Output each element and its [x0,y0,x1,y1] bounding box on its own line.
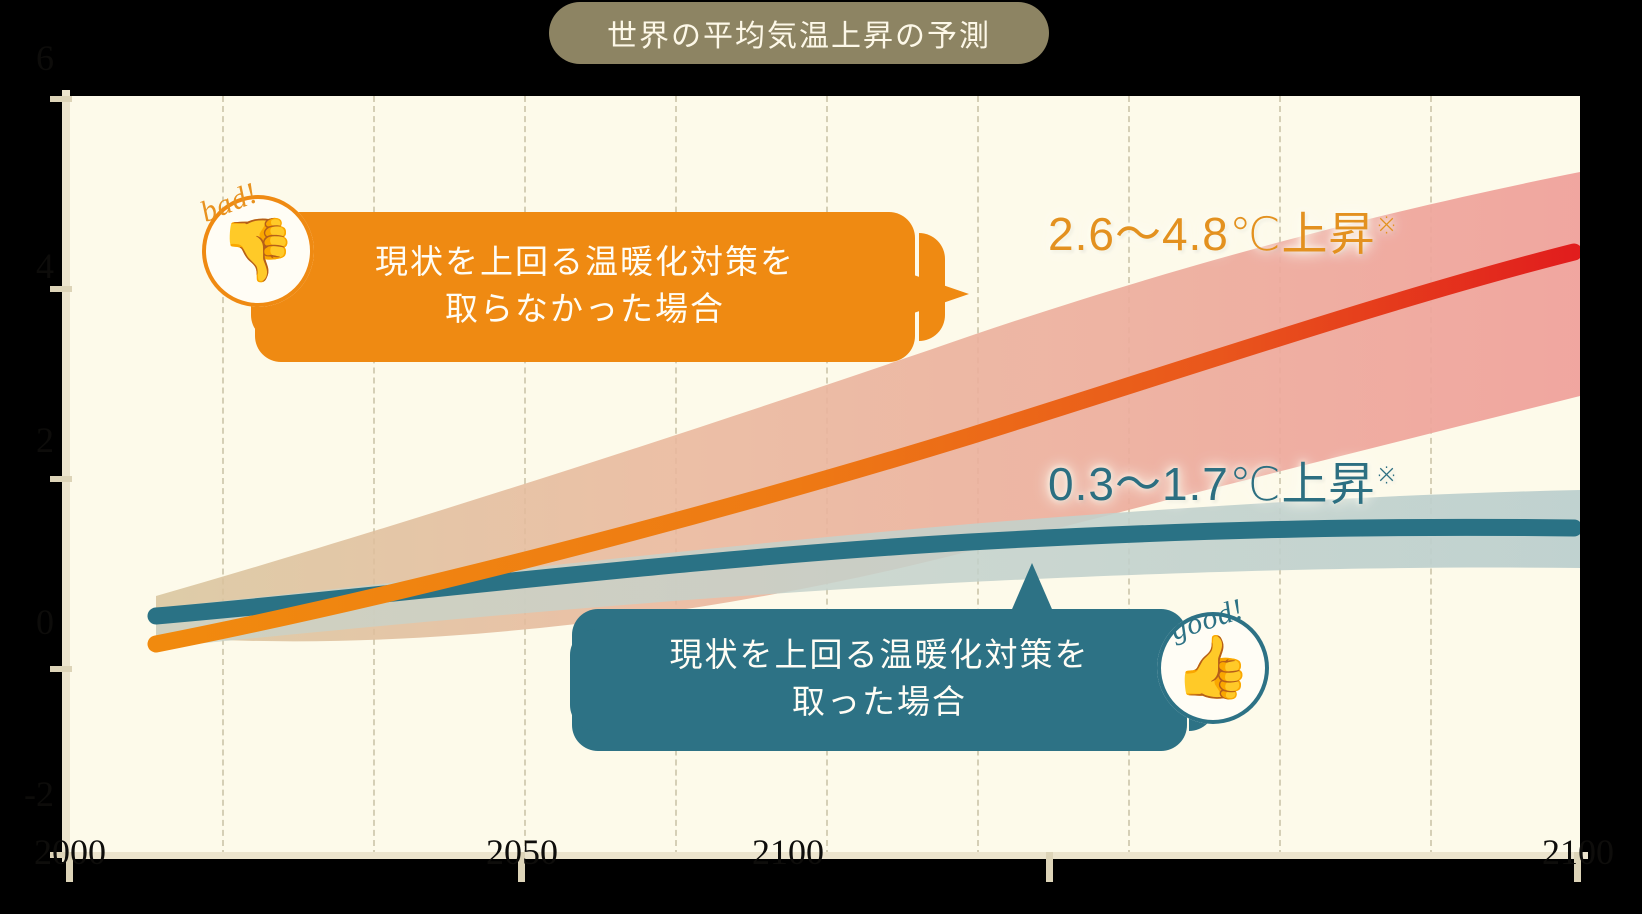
annotation-high-asterisk: ※ [1376,210,1399,240]
annotation-high-range: 2.6〜4.8℃上昇※ [1048,198,1398,264]
annotation-high-range-text: 2.6〜4.8℃上昇 [1048,208,1376,260]
y-axis-tick [50,666,72,672]
y-axis-tick [50,286,72,292]
thumbs-down-icon: 👎 [219,220,296,282]
y-axis-tick [50,96,72,102]
y-axis-label: 2 [2,422,54,458]
page-title: 世界の平均気温上昇の予測 [549,2,1049,64]
y-axis-label: 4 [2,248,54,284]
bubble-no-action-line2: 取らなかった場合 [445,287,725,334]
y-axis-label: 6 [2,40,54,76]
x-axis-label: 2100 [718,832,858,872]
thumbs-up-icon: 👍 [1174,637,1251,699]
x-axis-tick [1046,852,1053,882]
bubble-edge-right [906,233,932,341]
annotation-low-asterisk: ※ [1376,460,1399,490]
bubble-no-action[interactable]: 現状を上回る温暖化対策を 取らなかった場合 [255,212,915,362]
annotation-low-range: 0.3〜1.7℃上昇※ [1048,448,1398,514]
y-axis-label: 0 [2,604,54,640]
y-axis-tick [50,476,72,482]
bubble-no-action-line1: 現状を上回る温暖化対策を [375,240,795,287]
x-axis-label: 2100 [1508,832,1642,872]
y-axis-label: -2 [2,776,54,812]
x-axis-label: 2000 [0,832,140,872]
chart-page: 世界の平均気温上昇の予測 [0,0,1642,914]
x-axis-label: 2050 [452,832,592,872]
annotation-low-range-text: 0.3〜1.7℃上昇 [1048,458,1376,510]
bubble-with-action[interactable]: 現状を上回る温暖化対策を 取った場合 [572,609,1187,751]
bubble-with-action-line2: 取った場合 [792,680,967,727]
bubble-edge-left [557,629,583,731]
bubble-with-action-line1: 現状を上回る温暖化対策を [670,633,1090,680]
page-title-text: 世界の平均気温上昇の予測 [607,11,991,55]
